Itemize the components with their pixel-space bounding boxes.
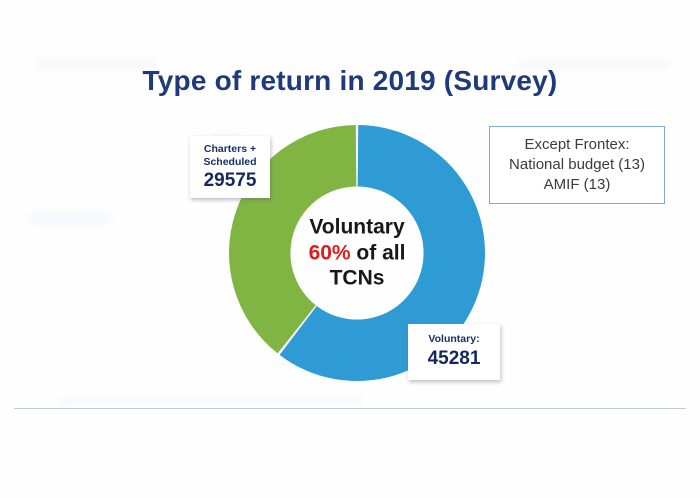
slide-canvas: Type of return in 2019 (Survey) Voluntar… <box>0 0 700 498</box>
callout-voluntary-caption: Voluntary: <box>418 333 490 346</box>
callout-charters-caption-line2: Scheduled <box>200 156 260 169</box>
callout-charters-caption-line1: Charters + <box>200 143 260 156</box>
note-line-2: National budget (13) <box>509 155 645 175</box>
callout-charters-value: 29575 <box>200 170 260 192</box>
footer-divider <box>14 408 686 409</box>
center-line-1: Voluntary <box>282 215 432 241</box>
center-line-3: TCNs <box>282 266 432 292</box>
scan-artifact <box>60 398 360 404</box>
scan-artifact <box>30 212 110 225</box>
callout-voluntary: Voluntary: 45281 <box>408 324 500 380</box>
note-box-except-frontex: Except Frontex: National budget (13) AMI… <box>489 126 665 204</box>
donut-center-annotation: Voluntary 60% of all TCNs <box>282 215 432 292</box>
callout-charters-scheduled: Charters + Scheduled 29575 <box>190 136 270 198</box>
note-line-1: Except Frontex: <box>524 135 629 155</box>
center-line-2-rest: of all <box>351 241 406 264</box>
callout-voluntary-value: 45281 <box>418 348 490 370</box>
note-line-3: AMIF (13) <box>544 175 611 195</box>
center-percentage: 60% <box>309 241 351 264</box>
slide-footer: FRONTEX EUROPEAN BORDER AND COAST GUARD … <box>0 414 700 444</box>
center-line-2: 60% of all <box>282 240 432 266</box>
slide-title: Type of return in 2019 (Survey) <box>0 65 700 97</box>
